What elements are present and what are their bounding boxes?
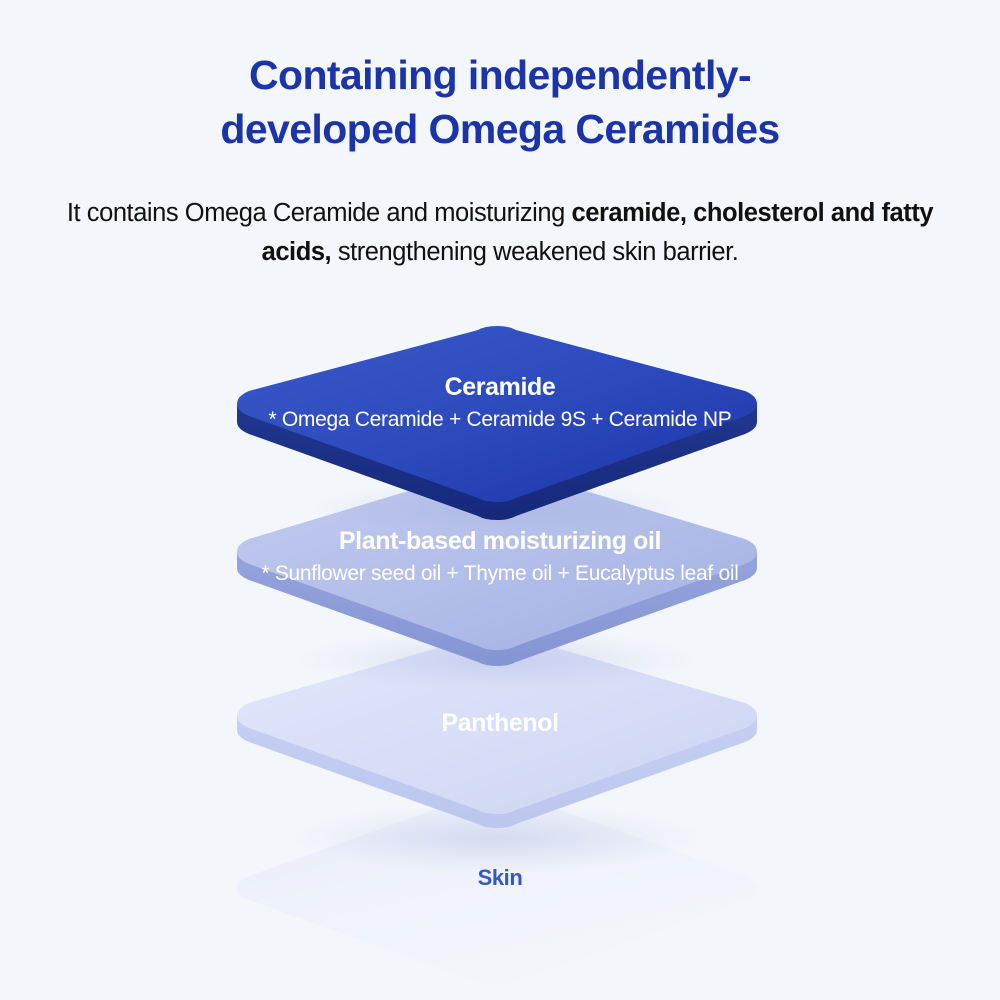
panthenol-label-group: Panthenol bbox=[0, 710, 1000, 736]
skin-top-face bbox=[237, 790, 757, 986]
page-title-line-2: developed Omega Ceramides bbox=[150, 102, 850, 156]
ceramide-subtitle: * Omega Ceramide + Ceramide 9S + Ceramid… bbox=[0, 400, 1000, 431]
skin-label-group: Skin bbox=[0, 866, 1000, 889]
page-subtitle: It contains Omega Ceramide and moisturiz… bbox=[35, 156, 965, 272]
plant-oil-side-face bbox=[237, 552, 757, 666]
plant-oil-title: Plant-based moisturizing oil bbox=[0, 528, 1000, 554]
stack-layer-plant-oil bbox=[237, 466, 757, 690]
plant-oil-top-face bbox=[237, 466, 757, 650]
plant-oil-shadow bbox=[297, 630, 697, 690]
stack-layer-ceramide bbox=[237, 326, 757, 534]
subtitle-text-1: It contains Omega Ceramide and moisturiz… bbox=[67, 199, 572, 227]
plant-oil-label-group: Plant-based moisturizing oil * Sunflower… bbox=[0, 528, 1000, 585]
skin-title: Skin bbox=[0, 866, 1000, 889]
subtitle-text-2: strengthening weakened skin barrier. bbox=[331, 238, 738, 266]
subtitle-bold-1: ceramide, cholesterol bbox=[572, 199, 825, 227]
panthenol-side-face bbox=[237, 716, 757, 828]
panthenol-shadow bbox=[292, 804, 702, 872]
panthenol-top-face bbox=[237, 632, 757, 814]
plant-oil-subtitle: * Sunflower seed oil + Thyme oil + Eucal… bbox=[0, 554, 1000, 585]
stack-layer-skin bbox=[237, 790, 757, 986]
ceramide-side-face bbox=[237, 404, 757, 520]
page-title: Containing independently- developed Omeg… bbox=[150, 0, 850, 156]
stack-layer-panthenol bbox=[237, 632, 757, 872]
ceramide-top-face bbox=[237, 326, 757, 502]
ceramide-label-group: Ceramide * Omega Ceramide + Ceramide 9S … bbox=[0, 374, 1000, 431]
ceramide-title: Ceramide bbox=[0, 374, 1000, 400]
ceramide-shadow bbox=[312, 482, 682, 534]
panthenol-title: Panthenol bbox=[0, 710, 1000, 736]
page-title-line-1: Containing independently- bbox=[150, 48, 850, 102]
header: Containing independently- developed Omeg… bbox=[0, 0, 1000, 272]
